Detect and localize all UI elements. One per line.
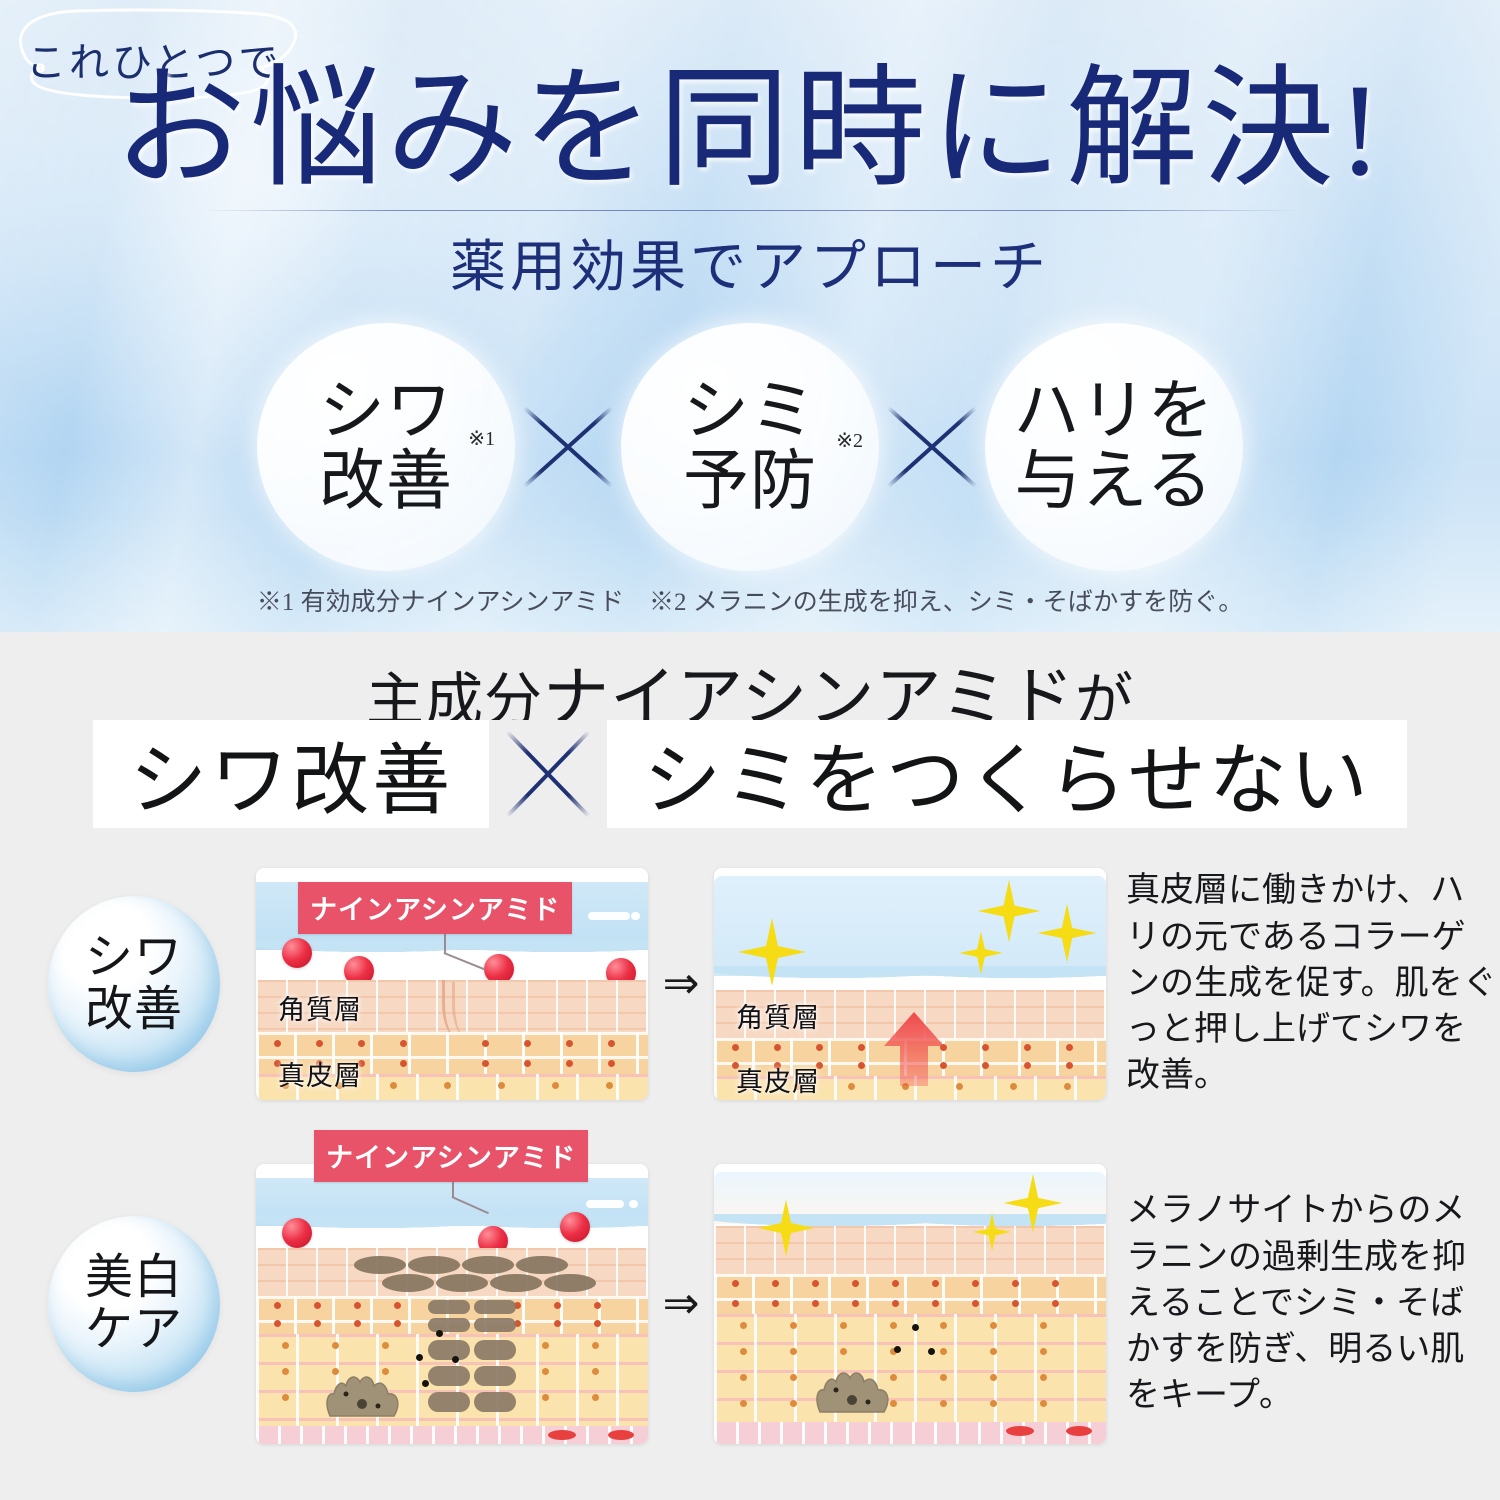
- melanin-deposit: [516, 1256, 568, 1274]
- diagram-whitening-after: [714, 1164, 1106, 1444]
- water-highlight: [629, 1200, 638, 1208]
- bubble-line1: 美白: [85, 1252, 183, 1304]
- basal-layer: [714, 1422, 1106, 1444]
- melanin-deposit: [474, 1318, 516, 1332]
- bubble-line1: シワ: [85, 932, 183, 984]
- melanin-deposit: [474, 1340, 516, 1360]
- mechanism-row-wrinkle: シワ 改善 ナインアシンアミド: [0, 854, 1500, 1114]
- claim-box-right: シミをつくらせない: [607, 720, 1406, 828]
- blood-vessel: [1006, 1426, 1034, 1436]
- benefit-label-line1: ハリを: [1014, 377, 1215, 447]
- benefit-label-line1: シワ: [319, 375, 453, 448]
- benefit-circle-spot: シミ ※2 予防: [621, 323, 879, 571]
- times-separator-icon-claim: [489, 720, 607, 828]
- melanin-deposit: [462, 1256, 514, 1274]
- times-separator-icon-1: [515, 392, 621, 502]
- sparkle-icon: [756, 1198, 816, 1258]
- water-highlight: [631, 912, 640, 920]
- hero-section: これひとつで お悩みを同時に解決! 薬用効果でアプローチ シワ ※1 改善 シミ…: [0, 0, 1500, 632]
- hero-headline: お悩みを同時に解決!: [0, 64, 1500, 196]
- hero-divider: [200, 210, 1300, 211]
- ingredient-particle: [282, 1218, 312, 1248]
- benefit-circle-firmness: ハリを 与える: [985, 323, 1243, 571]
- claim-right-label: シミをつくらせない: [643, 718, 1370, 830]
- ingredient-badge: ナインアシンアミド: [314, 1130, 588, 1182]
- blood-vessel: [608, 1430, 634, 1440]
- times-separator-icon-2: [879, 392, 985, 502]
- mechanism-row-whitening: 美白 ケア ナインアシンアミド: [0, 1144, 1500, 1464]
- claim-box-left: シワ改善: [93, 720, 489, 828]
- melanin-deposit: [474, 1392, 516, 1412]
- ingredient-particle: [560, 1212, 590, 1242]
- transition-arrow-icon: ⇒: [648, 962, 714, 1006]
- epidermis-layer: [714, 1274, 1106, 1314]
- layer-label-corneum: 角質層: [278, 988, 362, 1027]
- footnote-text: ※1 有効成分ナインアシンアミド ※2 メラニンの生成を抑え、シミ・そばかすを防…: [0, 582, 1500, 618]
- blood-vessel: [1066, 1426, 1092, 1436]
- diagram-wrinkle-before: ナインアシンアミド: [256, 868, 648, 1100]
- bubble-label-whitening: 美白 ケア: [48, 1216, 220, 1392]
- sparkle-icon: [736, 916, 808, 988]
- melanin-deposit: [474, 1366, 516, 1386]
- sparkle-icon: [1036, 902, 1098, 964]
- melanin-deposit: [428, 1340, 470, 1360]
- mechanism-section: 主成分ナイアシンアミドが シワ改善 シミをつくらせない シワ 改善 ナインアシン…: [0, 632, 1500, 1500]
- melanocyte-icon: [322, 1372, 404, 1420]
- dermis-layer: [714, 1314, 1106, 1422]
- melanin-deposit: [428, 1300, 470, 1314]
- melanin-deposit: [428, 1392, 470, 1412]
- melanin-deposit: [490, 1274, 542, 1292]
- lift-arrow-icon: [882, 1012, 946, 1086]
- dual-claim-row: シワ改善 シミをつくらせない: [0, 720, 1500, 828]
- melanin-deposit: [436, 1274, 488, 1292]
- blood-vessel: [548, 1430, 576, 1440]
- diagram-wrinkle-after: 角質層 真皮層: [714, 868, 1106, 1100]
- layer-label-dermis: 真皮層: [736, 1060, 820, 1099]
- claim-left-label: シワ改善: [129, 718, 453, 830]
- melanocyte-icon: [812, 1368, 894, 1416]
- benefit-circle-wrinkle: シワ ※1 改善: [257, 323, 515, 571]
- melanin-deposit: [354, 1256, 406, 1274]
- bubble-line2: ケア: [85, 1304, 183, 1356]
- water-highlight: [586, 1200, 624, 1208]
- melanin-deposit: [544, 1274, 596, 1292]
- melanin-deposit: [428, 1318, 470, 1332]
- bubble-line2: 改善: [85, 984, 183, 1036]
- basal-layer: [256, 1426, 648, 1444]
- mechanism-description-wrinkle: 真皮層に働きかけ、ハリの元であるコラーゲンの生成を促す。肌をぐっと押し上げてシワ…: [1126, 868, 1498, 1099]
- hero-subheadline: 薬用効果でアプローチ: [0, 222, 1500, 303]
- diagram-whitening-before: ナインアシンアミド: [256, 1164, 648, 1444]
- ingredient-particle: [282, 938, 312, 968]
- benefit-label-line2: 改善: [319, 447, 453, 517]
- layer-label-dermis: 真皮層: [278, 1054, 362, 1093]
- melanin-deposit: [474, 1300, 516, 1314]
- sparkle-icon: [958, 930, 1004, 976]
- melanin-deposit: [408, 1256, 460, 1274]
- benefit-footnote-marker: ※2: [836, 431, 863, 451]
- bubble-label-wrinkle: シワ 改善: [48, 896, 220, 1072]
- benefit-label-line1: シミ: [683, 375, 817, 448]
- water-highlight: [588, 912, 630, 920]
- benefit-circle-group: シワ ※1 改善 シミ ※2 予防 ハリを 与える: [0, 322, 1500, 572]
- melanin-deposit: [382, 1274, 434, 1292]
- transition-arrow-icon: ⇒: [648, 1282, 714, 1326]
- benefit-footnote-marker: ※1: [468, 429, 495, 449]
- cell-nuclei: [714, 1274, 1106, 1314]
- ingredient-badge: ナインアシンアミド: [298, 882, 572, 934]
- cell-nuclei: [714, 1314, 1106, 1422]
- melanin-deposit: [428, 1366, 470, 1386]
- benefit-label-line2: 与える: [1014, 447, 1215, 517]
- benefit-label-line2: 予防: [683, 447, 817, 517]
- mechanism-description-whitening: メラノサイトからのメラニンの過剰生成を抑えることでシミ・そばかすを防ぎ、明るい肌…: [1126, 1188, 1498, 1419]
- sparkle-icon: [972, 1212, 1012, 1252]
- layer-label-corneum: 角質層: [736, 996, 820, 1035]
